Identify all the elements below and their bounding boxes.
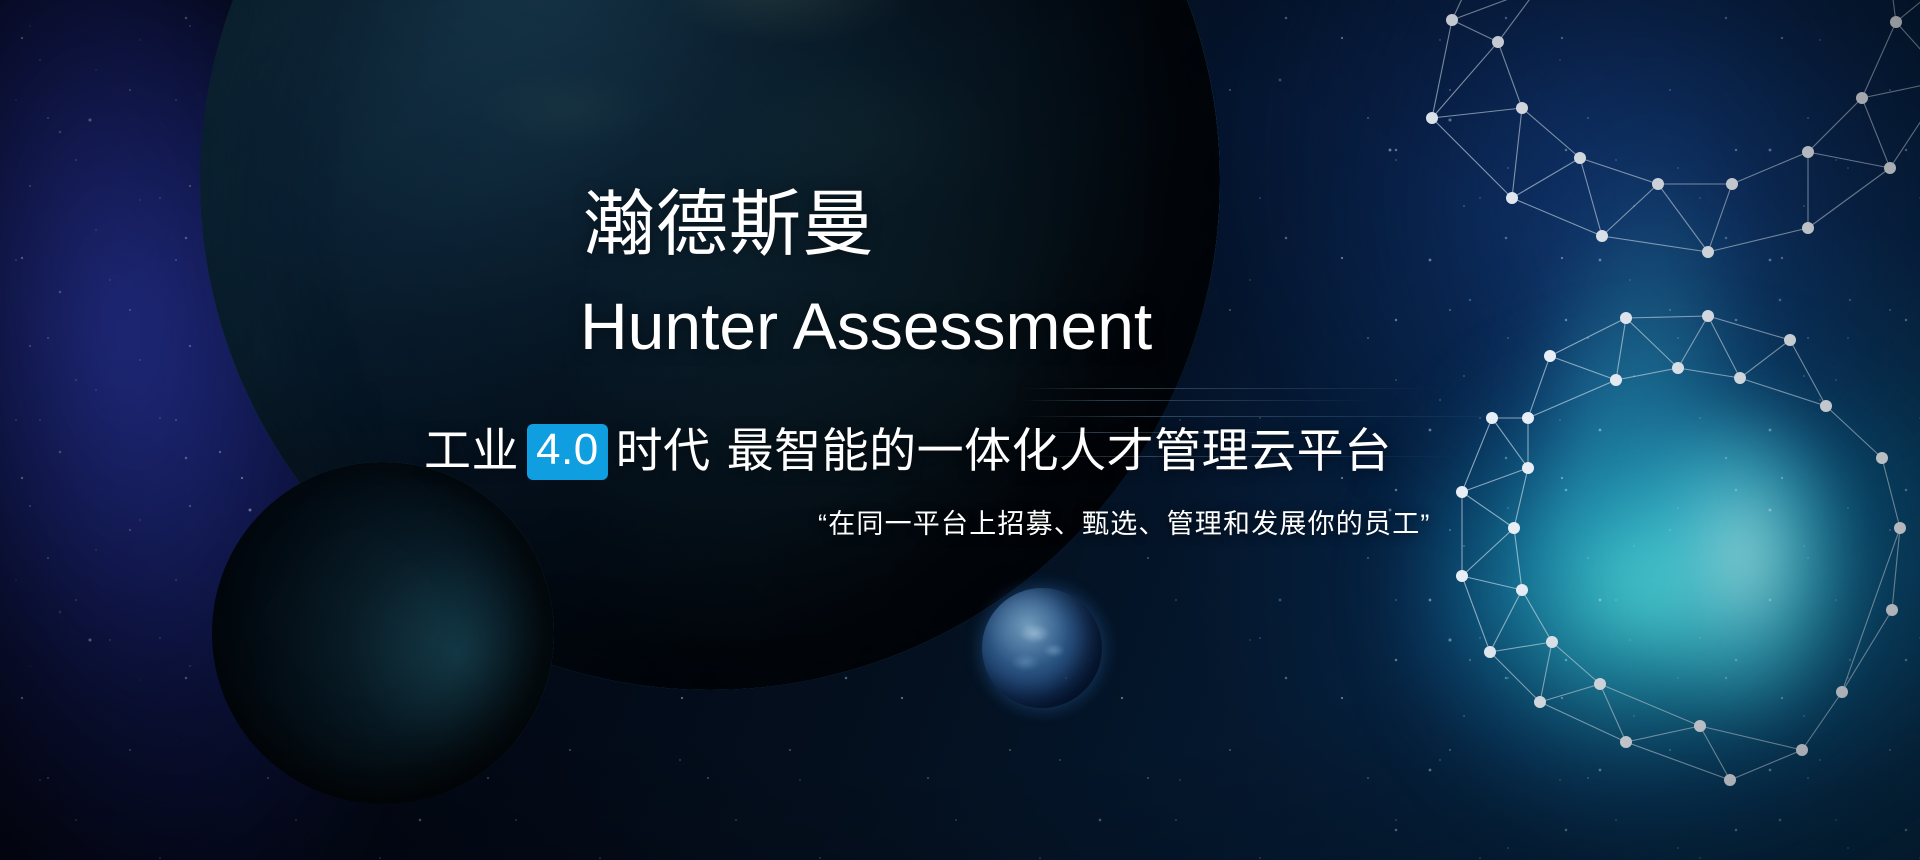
hero-banner: 瀚德斯曼 Hunter Assessment 工业 4.0 时代 最智能的一体化…: [0, 0, 1920, 860]
tagline-part-3: 最智能的一体化人才管理云平台: [727, 425, 1392, 478]
industry-version-badge: 4.0: [527, 424, 608, 480]
tagline: 工业 4.0 时代 最智能的一体化人才管理云平台: [424, 424, 1392, 480]
tagline-part-2: 时代: [616, 425, 711, 478]
tagline-part-1: 工业: [424, 425, 519, 478]
brand-name-english: Hunter Assessment: [580, 292, 1152, 361]
hero-text-block: 瀚德斯曼 Hunter Assessment 工业 4.0 时代 最智能的一体化…: [0, 0, 1920, 860]
brand-name-chinese: 瀚德斯曼: [583, 188, 875, 263]
hero-quote: “在同一平台上招募、甄选、管理和发展你的员工”: [818, 507, 1431, 542]
